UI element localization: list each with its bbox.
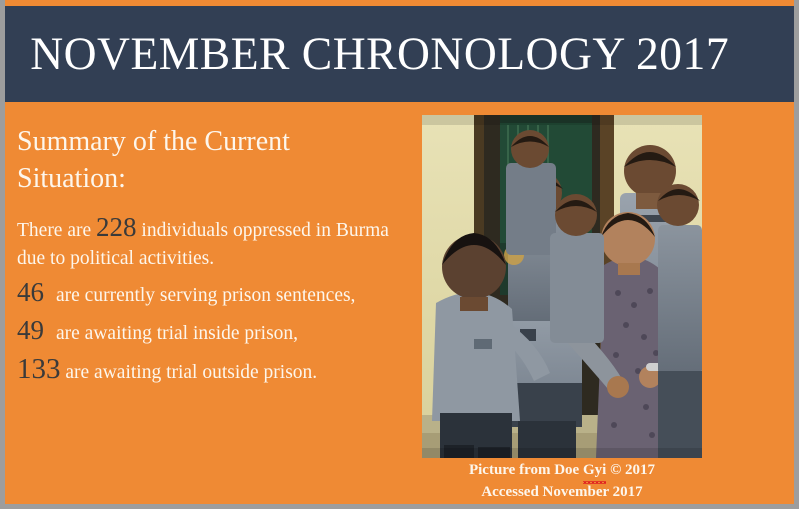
stat-intro-prefix: There are <box>17 220 96 241</box>
stat-text-trial-inside: are awaiting trial inside prison, <box>56 323 298 344</box>
stat-count-serving: 46 <box>17 277 44 307</box>
summary-column: Summary of the Current Situation: There … <box>5 102 405 386</box>
stat-count-trial-outside: 133 <box>17 353 61 385</box>
slide-canvas: NOVEMBER CHRONOLOGY 2017 Summary of the … <box>0 0 799 509</box>
photo-frame <box>422 115 702 458</box>
stat-item-serving: 46are currently serving prison sentences… <box>17 279 395 310</box>
stat-count-trial-inside: 49 <box>17 315 44 345</box>
caption-suffix: © 2017 <box>606 462 655 478</box>
photo-caption-line-1: Picture from Doe Gyi © 2017 <box>422 460 702 482</box>
stat-intro-count: 228 <box>96 212 137 242</box>
photo-caption-line-2: Accessed November 2017 <box>422 482 702 504</box>
stat-item-trial-outside: 133 are awaiting trial outside prison. <box>17 355 395 387</box>
statistics-list: There are 228 individuals oppressed in B… <box>17 214 395 386</box>
title-banner: NOVEMBER CHRONOLOGY 2017 <box>5 6 794 102</box>
stat-intro: There are 228 individuals oppressed in B… <box>17 214 395 272</box>
stat-text-trial-outside: are awaiting trial outside prison. <box>65 362 317 383</box>
page-title: NOVEMBER CHRONOLOGY 2017 <box>5 31 729 78</box>
caption-prefix: Picture from Doe <box>469 462 583 478</box>
summary-heading: Summary of the Current Situation: <box>17 124 347 198</box>
stat-text-serving: are currently serving prison sentences, <box>56 285 355 306</box>
photo-caption: Picture from Doe Gyi © 2017 Accessed Nov… <box>422 460 702 504</box>
police-escorting-detainee-photo <box>422 115 702 458</box>
stat-item-trial-inside: 49are awaiting trial inside prison, <box>17 317 395 348</box>
caption-misspelled-word: Gyi <box>583 460 606 482</box>
